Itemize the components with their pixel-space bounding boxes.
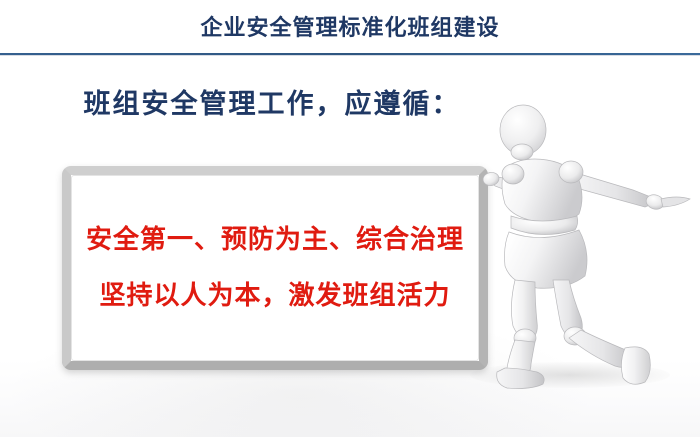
slogan-line-1: 安全第一、预防为主、综合治理 xyxy=(86,215,464,265)
mannequin-body xyxy=(482,105,690,389)
main-heading: 班组安全管理工作，应遵循： xyxy=(52,86,492,124)
mannequin-shin-right xyxy=(569,330,631,367)
slogan-board-inner: 安全第一、预防为主、综合治理 坚持以人为本，激发班组活力 xyxy=(71,175,479,361)
mannequin-foot-left xyxy=(497,368,544,389)
mannequin-shin-left xyxy=(507,340,535,378)
mannequin-foot-right xyxy=(621,347,650,384)
mannequin-knee-left xyxy=(514,329,536,347)
mannequin-chest xyxy=(502,159,582,222)
mannequin-shoulder-left-cap xyxy=(502,164,524,184)
mannequin-wrist-right xyxy=(644,193,665,212)
mannequin-hand-right xyxy=(661,197,690,207)
mannequin-waist xyxy=(511,216,578,235)
mannequin-knee-right xyxy=(564,327,586,345)
mannequin-figure-icon xyxy=(455,100,700,390)
mannequin-arm-upper-right xyxy=(569,172,655,207)
header-divider-shadow xyxy=(0,55,700,56)
mannequin-hips xyxy=(505,230,588,288)
mannequin-head xyxy=(500,105,546,155)
mannequin-thigh-left xyxy=(511,280,537,340)
mannequin-thigh-right xyxy=(553,280,582,338)
mannequin-shoulder-right xyxy=(559,161,583,183)
page-title: 企业安全管理标准化班组建设 xyxy=(0,14,700,44)
slogan-board: 安全第一、预防为主、综合治理 坚持以人为本，激发班组活力 xyxy=(62,166,488,370)
mannequin-forearm-left xyxy=(489,176,525,196)
figure-ground-shadow xyxy=(470,362,670,388)
mannequin-shoulder-left xyxy=(506,172,533,198)
slogan-line-2: 坚持以人为本，激发班组活力 xyxy=(99,271,450,321)
mannequin-neck xyxy=(511,144,533,160)
slide-canvas: 企业安全管理标准化班组建设 班组安全管理工作，应遵循： 安全第一、预防为主、综合… xyxy=(0,0,700,437)
